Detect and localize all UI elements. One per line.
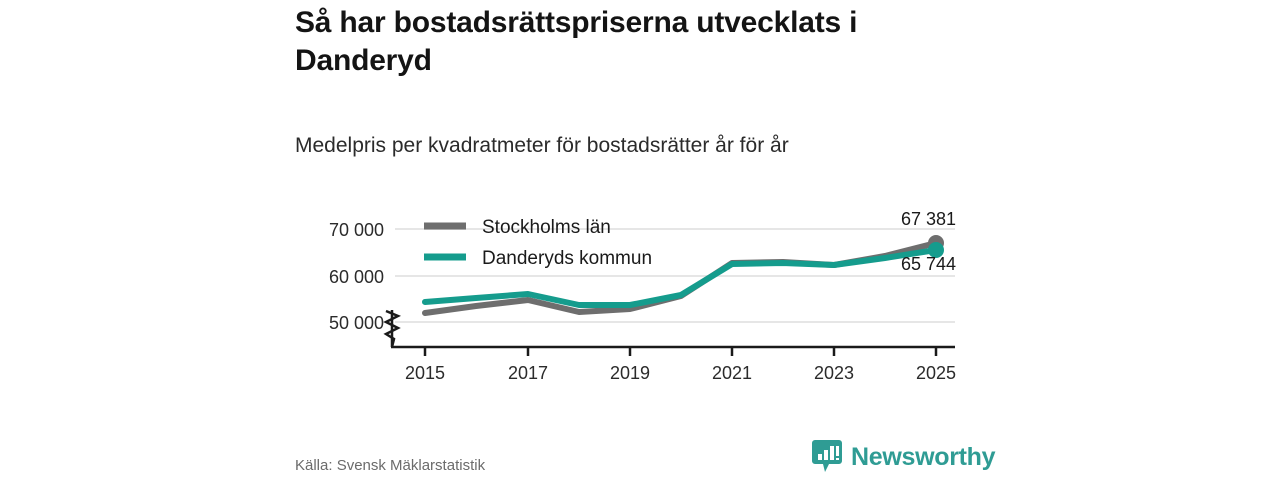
chart-svg: 70 000 60 000 50 000 67 381 65 744 (0, 195, 1280, 395)
source-note: Källa: Svensk Mäklarstatistik (295, 457, 485, 474)
page-title: Så har bostadsrättspriserna utvecklats i… (295, 4, 995, 80)
x-tick-label-2015: 2015 (405, 363, 445, 383)
x-tick-label-2025: 2025 (916, 363, 956, 383)
y-tick-label-70000: 70 000 (329, 220, 384, 240)
y-axis-tick-labels: 70 000 60 000 50 000 (329, 220, 384, 333)
end-label-danderyd: 65 744 (901, 254, 956, 274)
line-chart: 70 000 60 000 50 000 67 381 65 744 (0, 195, 1280, 395)
series-stockholm (425, 235, 944, 313)
bar-chart-pin-icon (812, 440, 842, 474)
chart-legend: Stockholms län Danderyds kommun (424, 217, 652, 269)
x-tick-label-2021: 2021 (712, 363, 752, 383)
legend-label-danderyd: Danderyds kommun (482, 248, 652, 269)
brand-wordmark: Newsworthy (851, 443, 995, 472)
y-tick-label-60000: 60 000 (329, 267, 384, 287)
x-tick-label-2023: 2023 (814, 363, 854, 383)
y-tick-label-50000: 50 000 (329, 313, 384, 333)
chart-page: Så har bostadsrättspriserna utvecklats i… (0, 0, 1280, 480)
end-label-stockholm: 67 381 (901, 209, 956, 229)
chart-subtitle: Medelpris per kvadratmeter för bostadsrä… (295, 134, 1015, 158)
x-tick-label-2017: 2017 (508, 363, 548, 383)
legend-item-danderyd[interactable]: Danderyds kommun (424, 248, 652, 269)
legend-label-stockholm: Stockholms län (482, 217, 611, 238)
x-axis: 2015 2017 2019 2021 2023 2025 (386, 310, 956, 383)
x-axis-tick-labels: 2015 2017 2019 2021 2023 2025 (405, 363, 956, 383)
x-axis-ticks (425, 347, 936, 356)
legend-item-stockholm[interactable]: Stockholms län (424, 217, 611, 238)
newsworthy-logo[interactable]: Newsworthy (812, 440, 995, 474)
x-tick-label-2019: 2019 (610, 363, 650, 383)
